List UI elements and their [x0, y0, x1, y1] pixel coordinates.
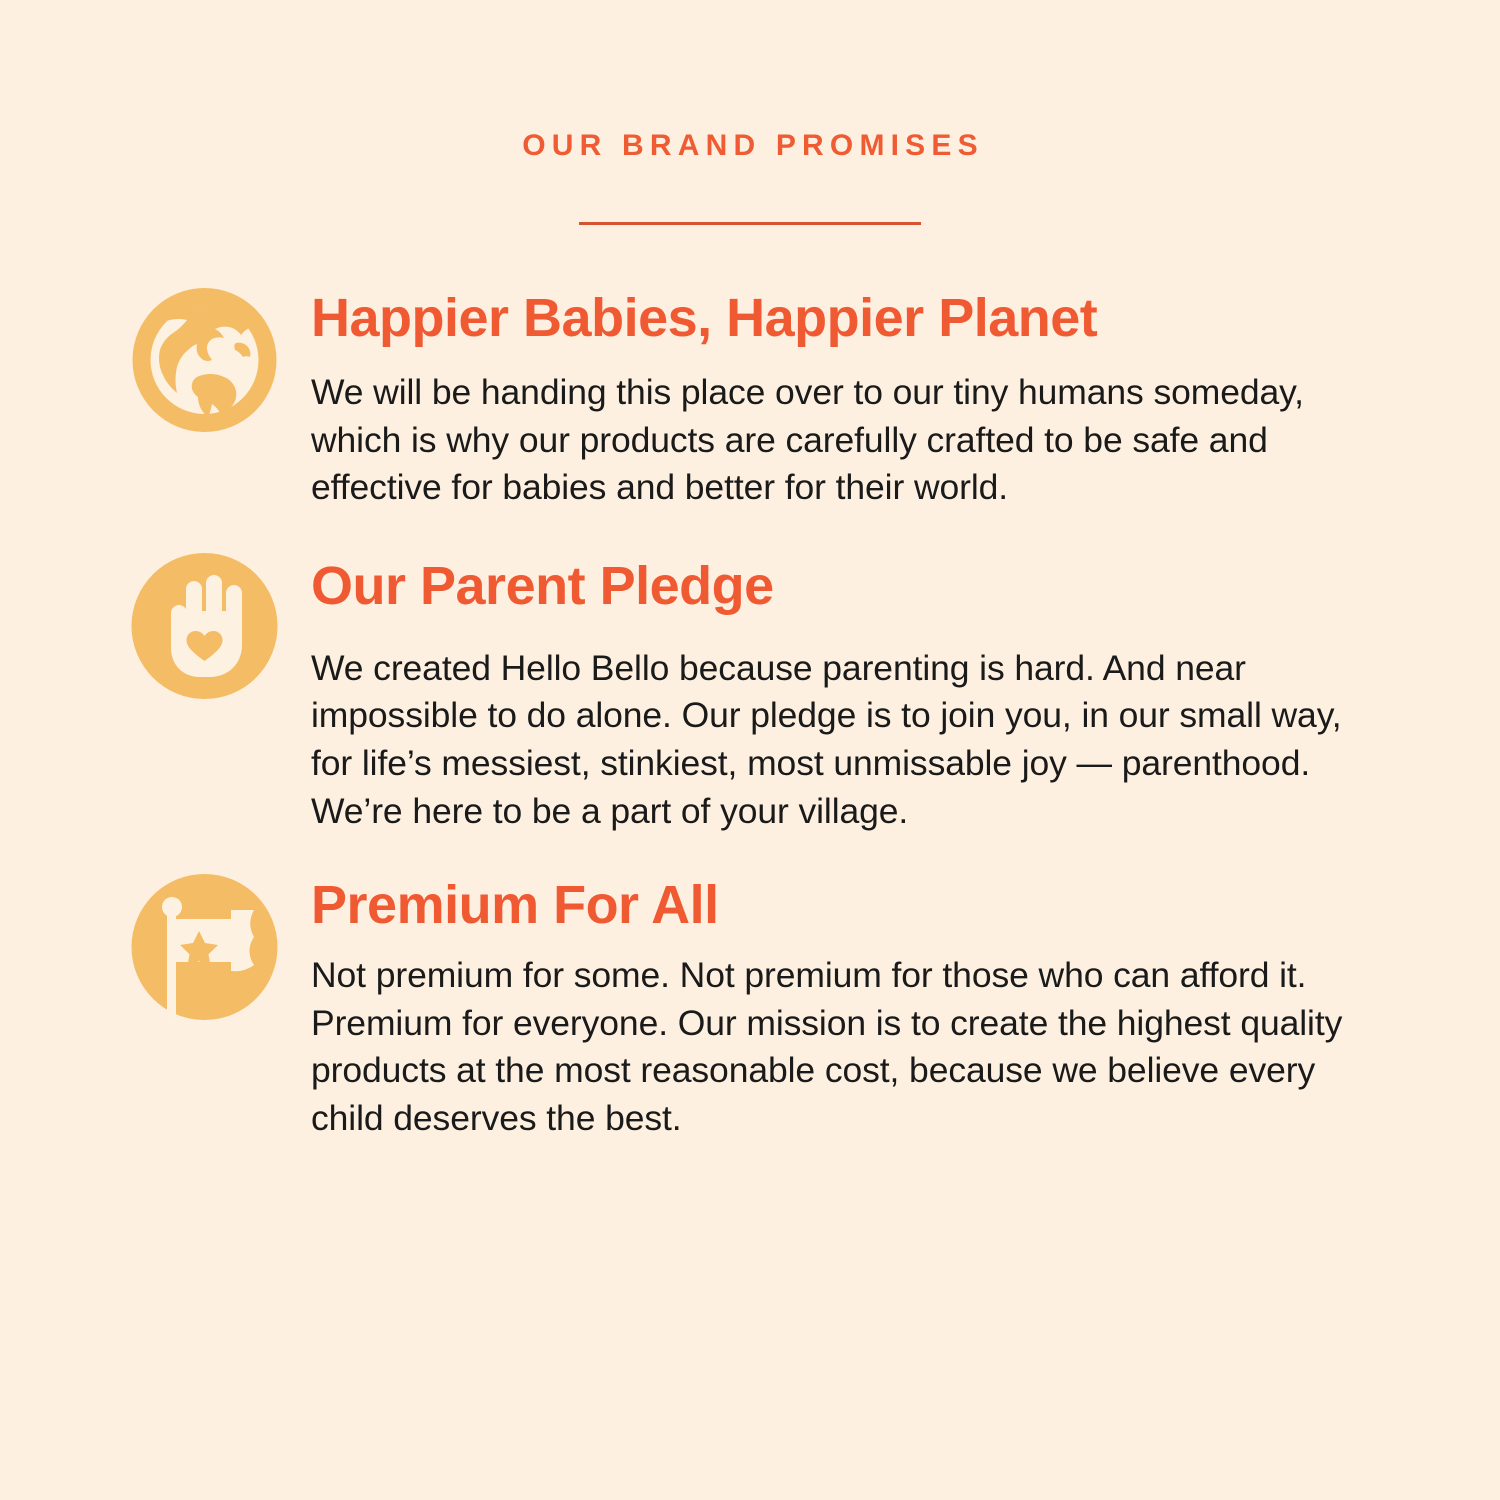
promise-title: Premium For All — [311, 878, 1371, 933]
promise-item-premium-for-all: Premium For All Not premium for some. No… — [0, 874, 1500, 1142]
hand-heart-icon — [131, 551, 278, 701]
divider-container — [0, 222, 1500, 225]
promise-text-container: Our Parent Pledge We created Hello Bello… — [278, 551, 1371, 835]
globe-icon — [131, 285, 278, 435]
promise-body: We created Hello Bello because parenting… — [311, 645, 1371, 835]
horizontal-rule-divider — [579, 222, 921, 225]
promise-item-parent-pledge: Our Parent Pledge We created Hello Bello… — [0, 551, 1500, 835]
promise-icon-container — [131, 874, 278, 1024]
promise-text-container: Happier Babies, Happier Planet We will b… — [278, 285, 1371, 512]
brand-promises-page: OUR BRAND PROMISES Happier Babies, Happi… — [0, 0, 1500, 1500]
promise-title: Happier Babies, Happier Planet — [311, 291, 1371, 346]
flag-star-icon — [131, 874, 278, 1024]
promise-body: Not premium for some. Not premium for th… — [311, 952, 1371, 1142]
page-header: OUR BRAND PROMISES — [0, 0, 1500, 225]
promise-body: We will be handing this place over to ou… — [311, 369, 1371, 512]
promise-icon-container — [131, 551, 278, 701]
promise-item-happier-planet: Happier Babies, Happier Planet We will b… — [0, 285, 1500, 512]
page-title: OUR BRAND PROMISES — [0, 131, 1500, 161]
promise-text-container: Premium For All Not premium for some. No… — [278, 874, 1371, 1142]
promise-icon-container — [131, 285, 278, 435]
promises-list: Happier Babies, Happier Planet We will b… — [0, 285, 1500, 1142]
promise-title: Our Parent Pledge — [311, 559, 1371, 614]
